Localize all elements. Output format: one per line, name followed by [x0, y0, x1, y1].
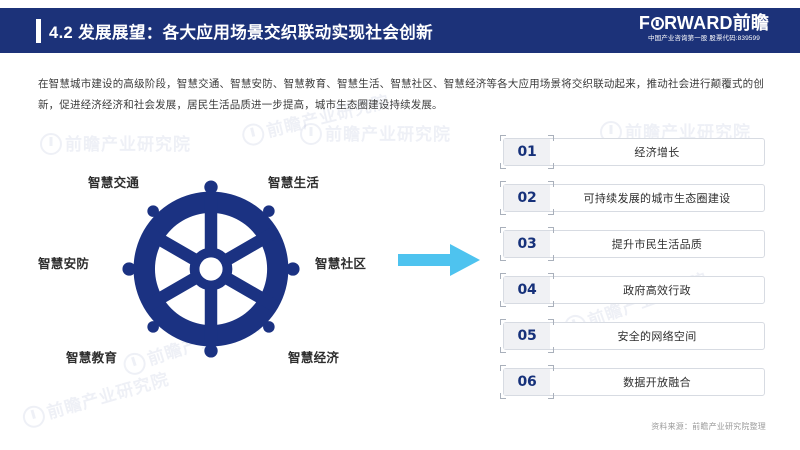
list-item-number: 03 — [504, 231, 550, 257]
list-item[interactable]: 06 数据开放融合 — [503, 368, 765, 396]
list-item-label: 经济增长 — [550, 139, 764, 165]
list-item-number: 06 — [504, 369, 550, 395]
corner-tick-icon — [548, 347, 554, 353]
list-item-number: 04 — [504, 277, 550, 303]
corner-tick-icon — [548, 365, 554, 371]
list-item-number: 02 — [504, 185, 550, 211]
brand-o-ring-icon — [651, 17, 664, 30]
corner-tick-icon — [500, 273, 506, 279]
corner-tick-icon — [500, 393, 506, 399]
corner-tick-icon — [548, 163, 554, 169]
wheel-label-community: 智慧社区 — [315, 253, 366, 272]
corner-tick-icon — [548, 273, 554, 279]
corner-tick-icon — [500, 301, 506, 307]
list-item-number: 01 — [504, 139, 550, 165]
corner-tick-icon — [548, 255, 554, 261]
list-item-number-text: 04 — [518, 282, 537, 298]
list-item-number-text: 03 — [518, 236, 537, 252]
corner-tick-icon — [500, 255, 506, 261]
watermark: 前瞻产业研究院 — [300, 120, 451, 145]
outcomes-list: 01 经济增长 02 可持续发展的城市生态圈建设 03 — [503, 138, 765, 414]
brand-wordmark-suffix: RWARD前瞻 — [664, 13, 769, 33]
corner-tick-icon — [500, 319, 506, 325]
list-item-label: 数据开放融合 — [550, 369, 764, 395]
right-arrow-icon — [398, 243, 480, 277]
brand-logo: FRWARD前瞻 中国产业咨询第一股 股票代码:839599 — [624, 12, 784, 44]
list-item-number: 05 — [504, 323, 550, 349]
watermark-logo-icon — [20, 403, 47, 430]
corner-tick-icon — [500, 209, 506, 215]
list-item-number-text: 02 — [518, 190, 537, 206]
list-item[interactable]: 03 提升市民生活品质 — [503, 230, 765, 258]
brand-wordmark: FRWARD前瞻 — [624, 12, 784, 34]
wheel-label-security: 智慧安防 — [38, 253, 89, 272]
corner-tick-icon — [548, 393, 554, 399]
page-title: 4.2 发展展望：各大应用场景交织联动实现社会创新 — [49, 19, 433, 43]
corner-tick-icon — [548, 319, 554, 325]
list-item-number-text: 06 — [518, 374, 537, 390]
ships-wheel-icon — [122, 180, 300, 358]
corner-tick-icon — [548, 227, 554, 233]
list-item[interactable]: 02 可持续发展的城市生态圈建设 — [503, 184, 765, 212]
corner-tick-icon — [500, 227, 506, 233]
brand-tagline: 中国产业咨询第一股 股票代码:839599 — [624, 34, 784, 44]
wheel-diagram: 智慧交通 智慧生活 智慧安防 智慧社区 智慧教育 智慧经济 — [10, 150, 400, 400]
corner-tick-icon — [548, 209, 554, 215]
slide-canvas: 前瞻产业研究院 前瞻产业研究院 前瞻产业研究院 前瞻产业研究院 前瞻产业研究院 … — [0, 0, 800, 450]
list-item[interactable]: 04 政府高效行政 — [503, 276, 765, 304]
corner-tick-icon — [500, 163, 506, 169]
watermark-logo-icon — [240, 121, 267, 148]
wheel-label-education: 智慧教育 — [66, 347, 117, 366]
source-note: 资料来源：前瞻产业研究院整理 — [651, 421, 766, 432]
list-item-label: 安全的网络空间 — [550, 323, 764, 349]
watermark-text: 前瞻产业研究院 — [325, 125, 451, 144]
list-item-label: 提升市民生活品质 — [550, 231, 764, 257]
slide-header: 4.2 发展展望：各大应用场景交织联动实现社会创新 FRWARD前瞻 中国产业咨… — [0, 8, 800, 53]
wheel-label-life: 智慧生活 — [268, 172, 319, 191]
corner-tick-icon — [500, 181, 506, 187]
watermark-logo-icon — [300, 123, 322, 145]
title-accent-bar — [36, 19, 41, 43]
brand-wordmark-prefix: F — [639, 13, 650, 33]
list-item[interactable]: 01 经济增长 — [503, 138, 765, 166]
list-item-label: 政府高效行政 — [550, 277, 764, 303]
list-item-label: 可持续发展的城市生态圈建设 — [550, 185, 764, 211]
wheel-label-economy: 智慧经济 — [288, 347, 339, 366]
corner-tick-icon — [548, 301, 554, 307]
corner-tick-icon — [548, 135, 554, 141]
corner-tick-icon — [500, 135, 506, 141]
list-item[interactable]: 05 安全的网络空间 — [503, 322, 765, 350]
corner-tick-icon — [500, 347, 506, 353]
corner-tick-icon — [500, 365, 506, 371]
wheel-label-traffic: 智慧交通 — [88, 172, 139, 191]
corner-tick-icon — [548, 181, 554, 187]
list-item-number-text: 01 — [518, 144, 537, 160]
list-item-number-text: 05 — [518, 328, 537, 344]
intro-paragraph: 在智慧城市建设的高级阶段，智慧交通、智慧安防、智慧教育、智慧生活、智慧社区、智慧… — [38, 74, 764, 116]
